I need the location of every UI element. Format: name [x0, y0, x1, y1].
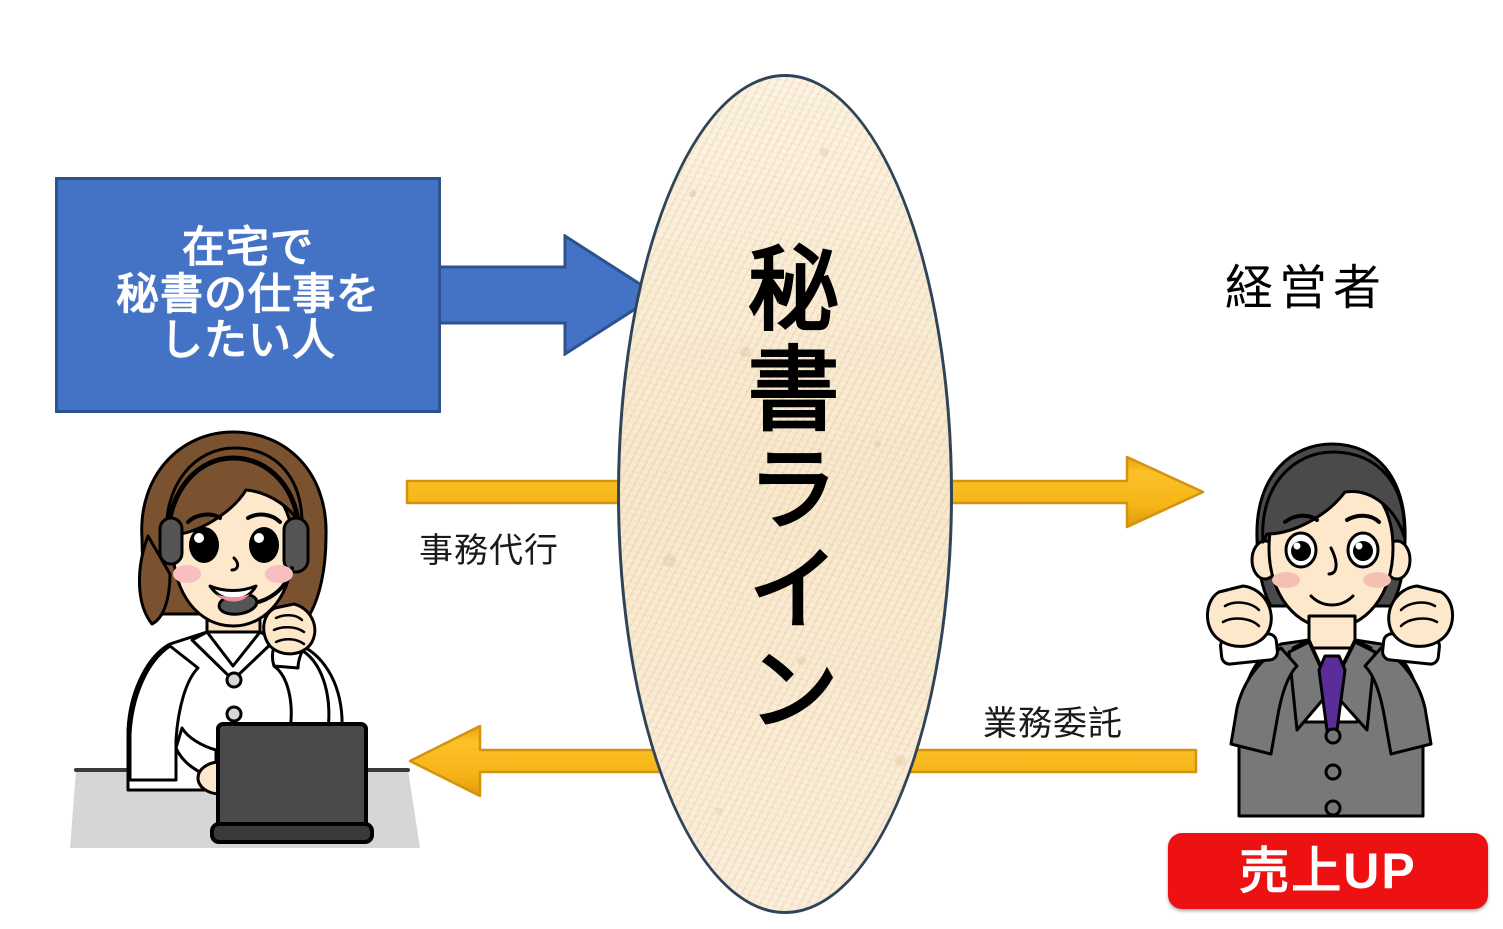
owner-label: 経営者 — [1225, 248, 1387, 318]
woman-with-headset-at-laptop-illustration — [70, 418, 420, 860]
worker-callout-box: 在宅で 秘書の仕事を したい人 — [55, 177, 441, 413]
worker-callout-line-2: 秘書の仕事を — [116, 272, 380, 318]
worker-callout-line-3: したい人 — [160, 318, 336, 364]
hub-label: 秘書ライン — [739, 241, 831, 741]
flow-caption-contract: 業務委託 — [983, 696, 1123, 745]
hub-oval: 秘書ライン — [617, 74, 953, 914]
diagram-canvas: 在宅で 秘書の仕事を したい人 — [0, 0, 1503, 929]
worker-callout-line-1: 在宅で — [182, 225, 314, 271]
flow-caption-outsourced-clerical: 事務代行 — [419, 523, 559, 572]
sales-up-badge-label: 売上UP — [1239, 846, 1416, 896]
sales-up-badge: 売上UP — [1168, 833, 1488, 909]
arrow-right-icon — [437, 234, 659, 356]
businessman-celebrating-illustration — [1185, 430, 1475, 830]
